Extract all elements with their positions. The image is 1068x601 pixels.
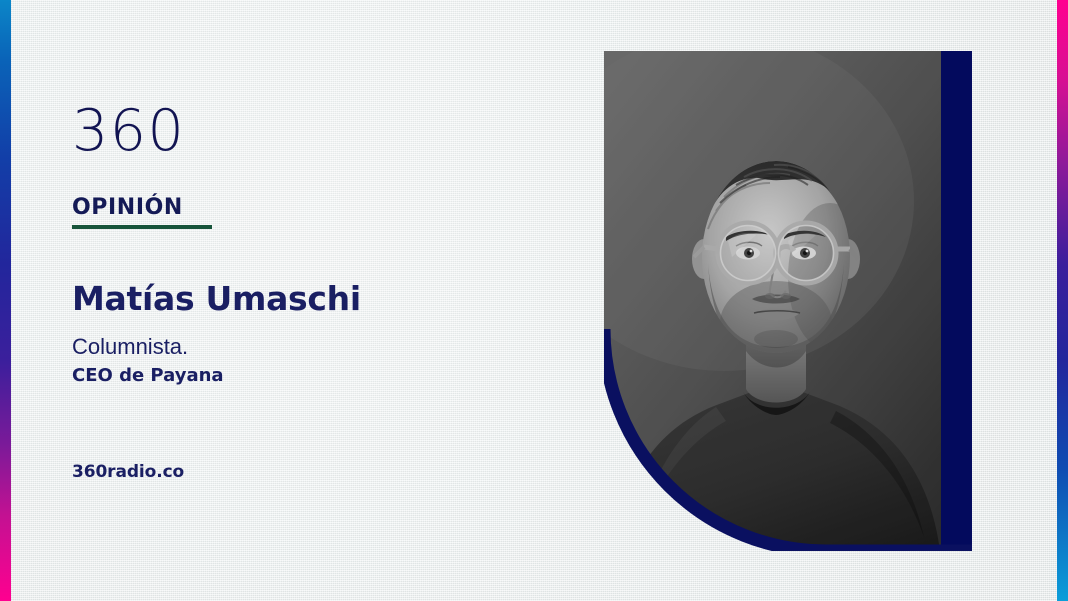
opinion-card: 360 OPINIÓN Matías Umaschi Columnista. C… — [0, 0, 1068, 601]
portrait-photo — [604, 51, 941, 551]
portrait-photo-frame — [604, 51, 941, 551]
author-name: Matías Umaschi — [72, 281, 361, 317]
author-organization: CEO de Payana — [72, 365, 224, 388]
right-gradient-rail — [1057, 0, 1068, 601]
left-gradient-rail — [0, 0, 11, 601]
author-role: Columnista. — [72, 333, 188, 361]
section-kicker: OPINIÓN — [72, 196, 212, 229]
text-column: 360 OPINIÓN Matías Umaschi Columnista. C… — [72, 0, 552, 601]
site-url[interactable]: 360radio.co — [72, 462, 184, 482]
brand-logo-360[interactable]: 360 — [72, 103, 185, 160]
portrait-block — [604, 51, 972, 551]
section-kicker-label: OPINIÓN — [72, 196, 212, 220]
section-kicker-underline — [72, 225, 212, 229]
